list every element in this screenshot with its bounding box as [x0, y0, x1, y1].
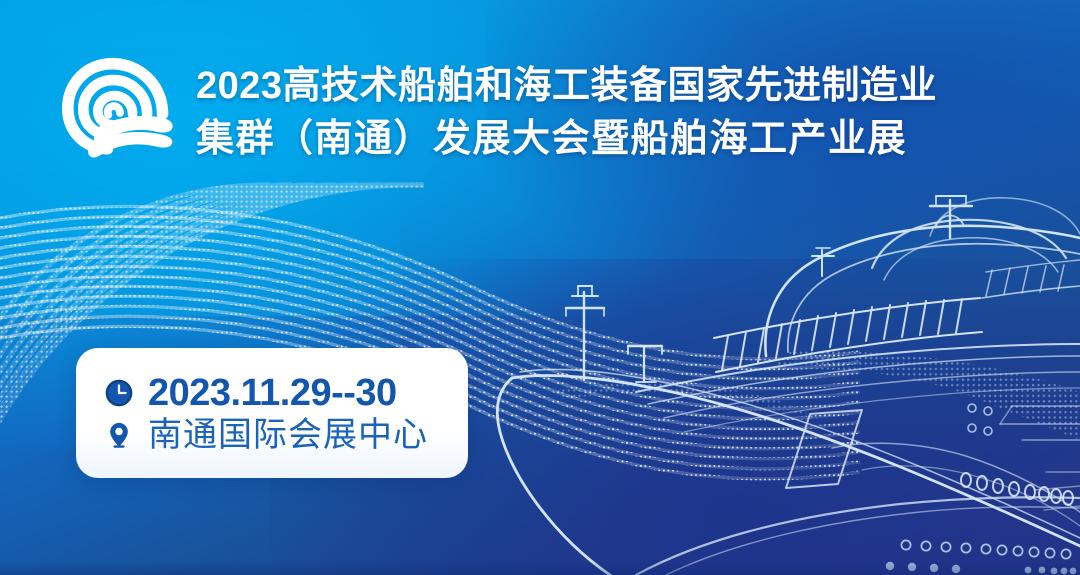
- clock-icon: [104, 378, 134, 408]
- title-block: 2023高技术船舶和海工装备国家先进制造业 集群（南通）发展大会暨船舶海工产业展: [196, 59, 937, 164]
- banner-header: 2023高技术船舶和海工装备国家先进制造业 集群（南通）发展大会暨船舶海工产业展: [62, 54, 937, 170]
- title-line-2: 集群（南通）发展大会暨船舶海工产业展: [196, 114, 937, 165]
- event-venue-text: 南通国际会展中心: [148, 418, 428, 452]
- event-date-row: 2023.11.29--30: [104, 374, 468, 412]
- location-pin-icon: [104, 420, 134, 450]
- event-banner: 2023高技术船舶和海工装备国家先进制造业 集群（南通）发展大会暨船舶海工产业展…: [0, 0, 1080, 575]
- title-line-1: 2023高技术船舶和海工装备国家先进制造业: [196, 61, 937, 112]
- wave-spiral-logo: [62, 54, 178, 170]
- event-info-card: 2023.11.29--30 南通国际会展中心: [76, 348, 468, 478]
- event-date-text: 2023.11.29--30: [148, 374, 397, 412]
- bottom-vignette: [0, 561, 1080, 575]
- event-venue-row: 南通国际会展中心: [104, 418, 468, 452]
